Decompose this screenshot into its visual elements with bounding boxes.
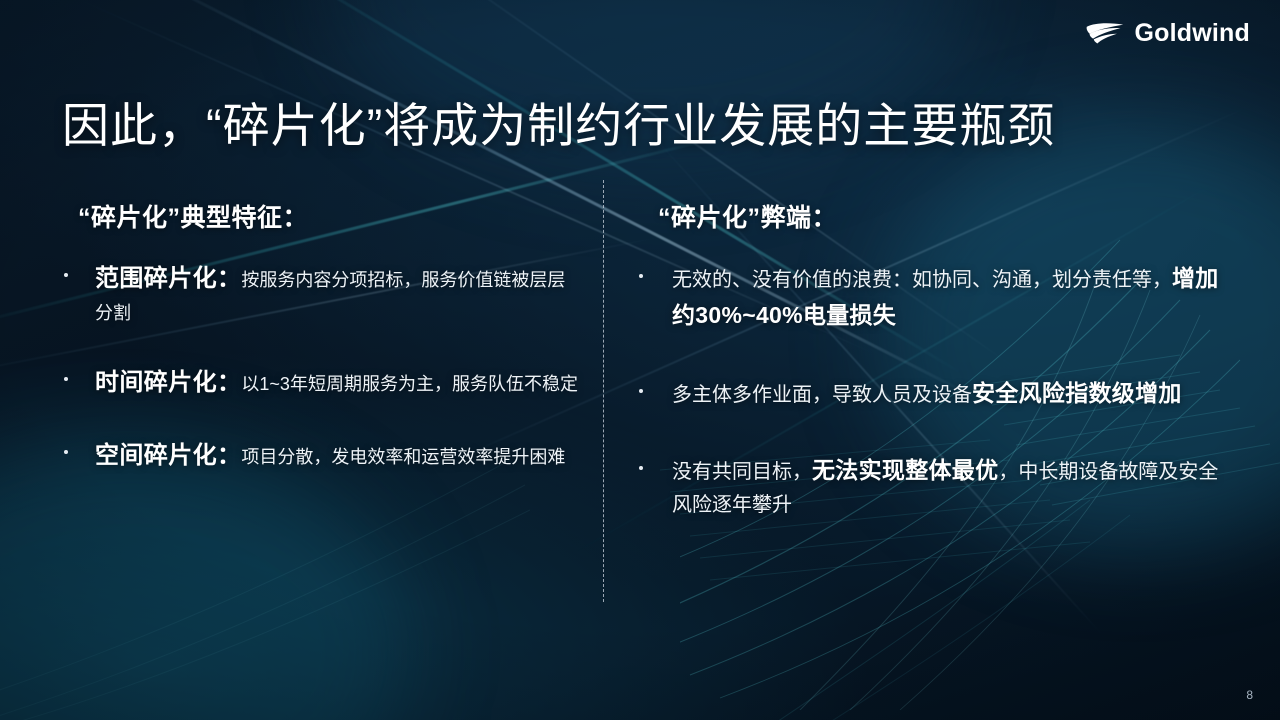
bullet-text-part1: 无效的、没有价值的浪费：如协同、沟通，划分责任等， [672,269,1172,291]
brand-name: Goldwind [1135,21,1250,46]
bullet-text-part1: 没有共同目标， [672,461,812,483]
goldwind-swoosh-icon [1084,20,1126,46]
list-item: 没有共同目标，无法实现整体最优，中长期设备故障及安全风险逐年攀升 [639,452,1219,522]
bullet-lead: 范围碎片化： [95,265,241,292]
right-column-heading: “碎片化”弊端： [658,198,1219,234]
list-item: 范围碎片化：按服务内容分项招标，服务价值链被层层分割 [62,260,582,330]
slide-root: Goldwind 因此，“碎片化”将成为制约行业发展的主要瓶颈 “碎片化”典型特… [0,0,1280,720]
list-item: 无效的、没有价值的浪费：如协同、沟通，划分责任等，增加约30%~40%电量损失 [639,260,1219,335]
list-item: 多主体多作业面，导致人员及设备安全风险指数级增加 [639,375,1219,412]
list-item: 时间碎片化：以1~3年短周期服务为主，服务队伍不稳定 [62,364,582,403]
bullet-emphasis: 安全风险指数级增加 [972,380,1182,406]
left-column-heading: “碎片化”典型特征： [78,198,582,234]
right-column: “碎片化”弊端： 无效的、没有价值的浪费：如协同、沟通，划分责任等，增加约30%… [639,198,1219,561]
bullet-lead: 时间碎片化： [95,369,241,396]
page-number: 8 [1246,688,1253,702]
list-item: 空间碎片化：项目分散，发电效率和运营效率提升困难 [62,437,582,476]
bullet-emphasis: 无法实现整体最优 [812,457,998,483]
bullet-body: 项目分散，发电效率和运营效率提升困难 [241,447,565,467]
bullet-body: 以1~3年短周期服务为主，服务队伍不稳定 [241,374,578,394]
brand-logo: Goldwind [1084,20,1250,46]
bullet-text-part1: 多主体多作业面，导致人员及设备 [672,384,972,406]
column-divider [603,180,604,602]
left-column: “碎片化”典型特征： 范围碎片化：按服务内容分项招标，服务价值链被层层分割 时间… [62,198,582,509]
bullet-lead: 空间碎片化： [95,442,241,469]
page-title: 因此，“碎片化”将成为制约行业发展的主要瓶颈 [62,99,1055,154]
